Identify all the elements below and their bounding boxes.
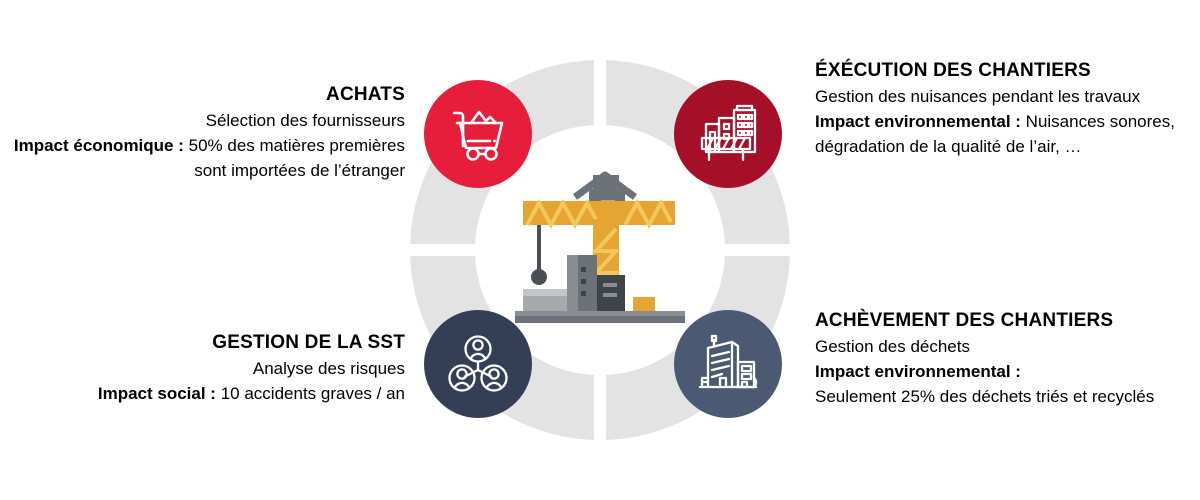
- node-execution[interactable]: [674, 80, 782, 188]
- sst-impact-text: 10 accidents graves / an: [221, 384, 405, 403]
- sst-impact-label: Impact social :: [98, 384, 216, 403]
- achats-impact-text: 50% des matières premières sont importée…: [189, 136, 405, 180]
- execution-title: ÉXÉCUTION DES CHANTIERS: [815, 58, 1193, 84]
- sst-impact: Impact social : 10 accidents graves / an: [10, 381, 405, 406]
- node-achevement[interactable]: [674, 310, 782, 418]
- achats-impact-label: Impact économique :: [14, 136, 184, 155]
- sst-title: GESTION DE LA SST: [10, 330, 405, 356]
- execution-impact-label: Impact environnemental :: [815, 112, 1021, 131]
- achevement-impact-text: Seulement 25% des déchets triés et recyc…: [815, 387, 1154, 406]
- people-network-icon: [446, 332, 510, 396]
- sst-subtitle: Analyse des risques: [10, 356, 405, 381]
- achats-impact: Impact économique : 50% des matières pre…: [10, 133, 405, 183]
- finished-building-icon: [696, 332, 760, 396]
- mining-cart-icon: [447, 103, 509, 165]
- execution-subtitle: Gestion des nuisances pendant les travau…: [815, 84, 1193, 109]
- achevement-impact: Impact environnemental :Seulement 25% de…: [815, 359, 1193, 409]
- text-block-sst: GESTION DE LA SST Analyse des risques Im…: [10, 330, 405, 406]
- construction-barrier-buildings-icon: [696, 102, 760, 166]
- infographic-canvas: ACHATS Sélection des fournisseurs Impact…: [0, 0, 1200, 500]
- text-block-achats: ACHATS Sélection des fournisseurs Impact…: [10, 82, 405, 183]
- tower-crane-icon: [505, 167, 695, 332]
- node-sst[interactable]: [424, 310, 532, 418]
- node-achats[interactable]: [424, 80, 532, 188]
- text-block-achevement: ACHÈVEMENT DES CHANTIERS Gestion des déc…: [815, 308, 1193, 409]
- achevement-impact-label: Impact environnemental :: [815, 362, 1021, 381]
- text-block-execution: ÉXÉCUTION DES CHANTIERS Gestion des nuis…: [815, 58, 1193, 159]
- achevement-title: ACHÈVEMENT DES CHANTIERS: [815, 308, 1193, 334]
- achevement-subtitle: Gestion des déchets: [815, 334, 1193, 359]
- achats-title: ACHATS: [10, 82, 405, 108]
- execution-impact: Impact environnemental : Nuisances sonor…: [815, 109, 1193, 159]
- achats-subtitle: Sélection des fournisseurs: [10, 108, 405, 133]
